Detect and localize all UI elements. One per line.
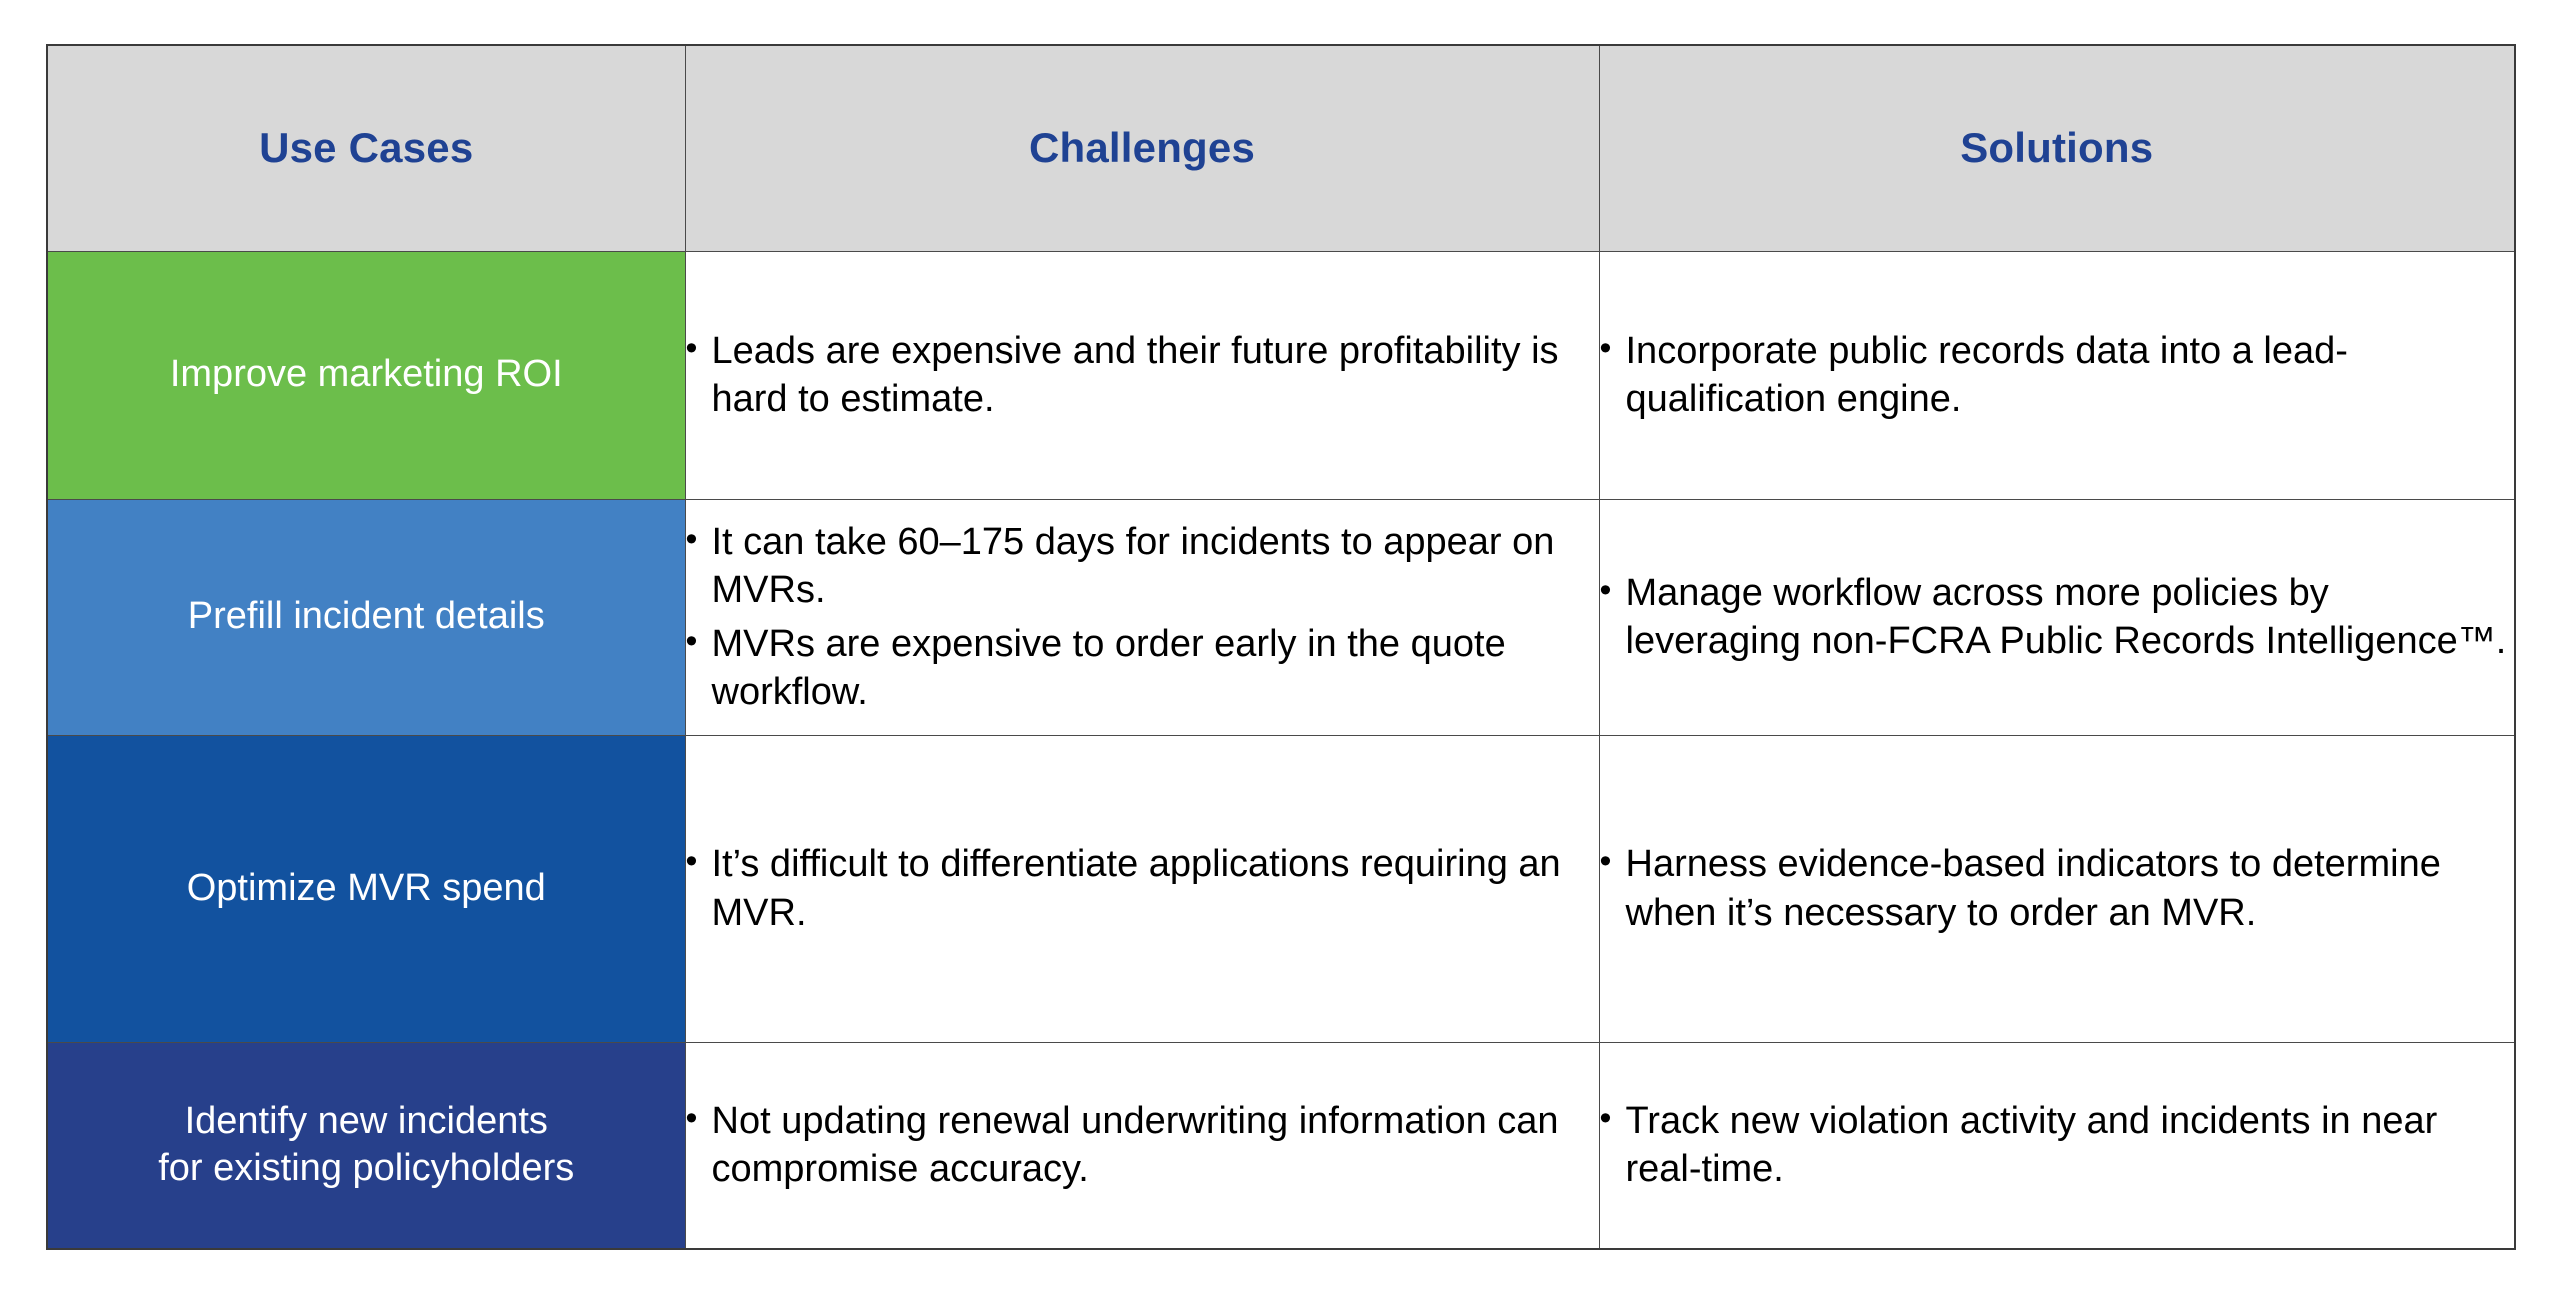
challenges-cell-row-3: It’s difficult to differentiate applicat… bbox=[685, 735, 1599, 1042]
list-item: Incorporate public records data into a l… bbox=[1600, 327, 2515, 424]
challenges-cell-row-4: Not updating renewal underwriting inform… bbox=[685, 1042, 1599, 1249]
use-case-matrix: Use Cases Challenges Solutions Improve m… bbox=[46, 44, 2514, 1249]
use-case-label-prefill-incident-details: Prefill incident details bbox=[47, 499, 685, 735]
column-header-use-cases: Use Cases bbox=[47, 45, 685, 251]
solutions-list: Incorporate public records data into a l… bbox=[1600, 327, 2515, 424]
table-header-row: Use Cases Challenges Solutions bbox=[47, 45, 2515, 251]
list-item: It can take 60–175 days for incidents to… bbox=[686, 518, 1599, 615]
use-case-label-line-2: for existing policyholders bbox=[48, 1145, 685, 1193]
table-row: Identify new incidents for existing poli… bbox=[47, 1042, 2515, 1249]
challenges-cell-row-1: Leads are expensive and their future pro… bbox=[685, 251, 1599, 499]
comparison-table: Use Cases Challenges Solutions Improve m… bbox=[46, 44, 2516, 1250]
use-case-label-line-1: Identify new incidents bbox=[48, 1098, 685, 1146]
solutions-list: Track new violation activity and inciden… bbox=[1600, 1097, 2515, 1194]
solutions-cell-row-2: Manage workflow across more policies by … bbox=[1599, 499, 2515, 735]
table-row: Prefill incident details It can take 60–… bbox=[47, 499, 2515, 735]
list-item: It’s difficult to differentiate applicat… bbox=[686, 840, 1599, 937]
table-row: Optimize MVR spend It’s difficult to dif… bbox=[47, 735, 2515, 1042]
challenges-list: It can take 60–175 days for incidents to… bbox=[686, 518, 1599, 717]
list-item: Manage workflow across more policies by … bbox=[1600, 569, 2515, 666]
list-item: MVRs are expensive to order early in the… bbox=[686, 620, 1599, 717]
challenges-list: Not updating renewal underwriting inform… bbox=[686, 1097, 1599, 1194]
challenges-list: Leads are expensive and their future pro… bbox=[686, 327, 1599, 424]
challenges-list: It’s difficult to differentiate applicat… bbox=[686, 840, 1599, 937]
solutions-cell-row-3: Harness evidence-based indicators to det… bbox=[1599, 735, 2515, 1042]
use-case-label-improve-marketing-roi: Improve marketing ROI bbox=[47, 251, 685, 499]
list-item: Track new violation activity and inciden… bbox=[1600, 1097, 2515, 1194]
challenges-cell-row-2: It can take 60–175 days for incidents to… bbox=[685, 499, 1599, 735]
list-item: Leads are expensive and their future pro… bbox=[686, 327, 1599, 424]
list-item: Harness evidence-based indicators to det… bbox=[1600, 840, 2515, 937]
solutions-list: Manage workflow across more policies by … bbox=[1600, 569, 2515, 666]
column-header-challenges: Challenges bbox=[685, 45, 1599, 251]
list-item: Not updating renewal underwriting inform… bbox=[686, 1097, 1599, 1194]
solutions-list: Harness evidence-based indicators to det… bbox=[1600, 840, 2515, 937]
column-header-solutions: Solutions bbox=[1599, 45, 2515, 251]
use-case-label-optimize-mvr-spend: Optimize MVR spend bbox=[47, 735, 685, 1042]
solutions-cell-row-4: Track new violation activity and inciden… bbox=[1599, 1042, 2515, 1249]
solutions-cell-row-1: Incorporate public records data into a l… bbox=[1599, 251, 2515, 499]
table-row: Improve marketing ROI Leads are expensiv… bbox=[47, 251, 2515, 499]
use-case-label-identify-new-incidents: Identify new incidents for existing poli… bbox=[47, 1042, 685, 1249]
